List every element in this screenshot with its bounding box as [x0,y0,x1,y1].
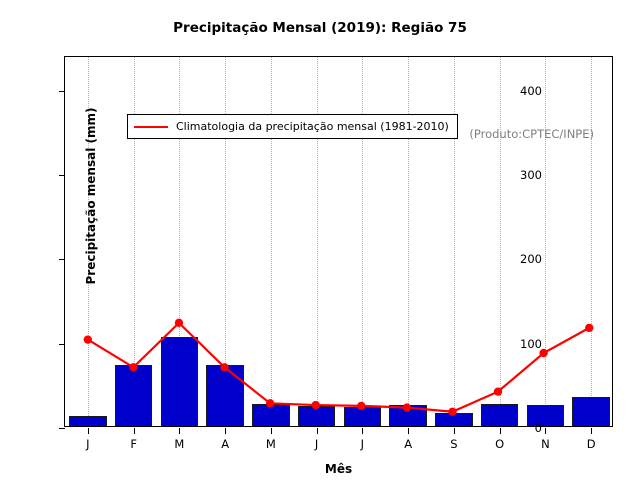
x-tick-label-7: A [383,437,433,451]
product-annotation: (Produto:CPTEC/INPE) [469,127,594,141]
climatology-marker-0 [84,335,92,343]
plot-inner [65,57,612,426]
x-tick-mark-5 [317,428,318,434]
x-tick-mark-2 [179,428,180,434]
legend-line-icon [134,126,168,128]
chart-figure: Precipitação Mensal (2019): Região 75 Pr… [0,0,640,500]
x-tick-label-6: J [337,437,387,451]
climatology-marker-5 [312,401,320,409]
x-tick-label-9: O [475,437,525,451]
x-tick-label-8: S [429,437,479,451]
x-tick-mark-6 [362,428,363,434]
chart-legend: Climatologia da precipitação mensal (198… [127,114,458,139]
x-tick-mark-8 [454,428,455,434]
y-tick-mark-0 [59,428,65,429]
x-tick-mark-11 [591,428,592,434]
climatology-marker-1 [129,363,137,371]
climatology-marker-9 [494,387,502,395]
climatology-marker-3 [220,363,228,371]
legend-label-climatology: Climatologia da precipitação mensal (198… [176,120,449,133]
y-tick-mark-3 [59,175,65,176]
x-tick-label-0: J [63,437,113,451]
climatology-marker-11 [585,324,593,332]
x-tick-mark-1 [134,428,135,434]
y-tick-mark-2 [59,259,65,260]
x-tick-mark-10 [545,428,546,434]
x-tick-label-3: A [200,437,250,451]
y-tick-label-4: 400 [502,84,542,98]
climatology-marker-6 [357,402,365,410]
y-tick-label-0: 0 [502,421,542,435]
x-tick-mark-3 [225,428,226,434]
x-tick-label-1: F [109,437,159,451]
y-tick-label-1: 100 [502,337,542,351]
y-tick-mark-4 [59,91,65,92]
y-axis-label: Precipitação mensal (mm) [84,66,98,326]
x-tick-mark-9 [500,428,501,434]
x-tick-label-2: M [154,437,204,451]
plot-area: Precipitação mensal (mm) 0100200300400 J… [64,56,613,427]
y-tick-label-3: 300 [502,168,542,182]
x-tick-mark-4 [271,428,272,434]
climatology-marker-7 [403,403,411,411]
climatology-marker-4 [266,399,274,407]
x-tick-label-10: N [520,437,570,451]
climatology-marker-2 [175,319,183,327]
x-tick-mark-7 [408,428,409,434]
x-tick-label-5: J [292,437,342,451]
y-tick-label-2: 200 [502,252,542,266]
x-tick-label-4: M [246,437,296,451]
x-tick-mark-0 [88,428,89,434]
climatology-marker-8 [448,408,456,416]
chart-title: Precipitação Mensal (2019): Região 75 [0,20,640,36]
x-tick-label-11: D [566,437,616,451]
climatology-line-series [65,57,612,426]
y-tick-mark-1 [59,344,65,345]
x-axis-label: Mês [64,462,613,476]
